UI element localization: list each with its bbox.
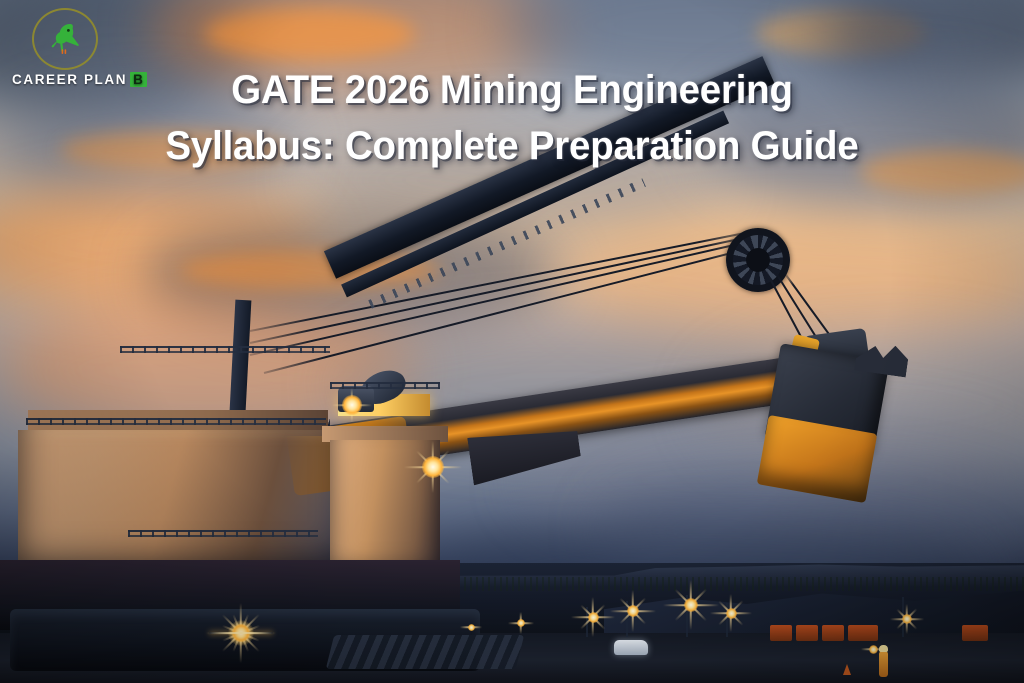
pit-light [730, 612, 732, 614]
handrail [330, 382, 440, 389]
handrail [128, 530, 318, 537]
title-line-2: Syllabus: Complete Preparation Guide [20, 118, 1003, 174]
work-light [240, 632, 242, 634]
pit-light [592, 616, 594, 618]
title-line-1: GATE 2026 Mining Engineering [20, 62, 1003, 118]
pit-light [690, 604, 692, 606]
green-bird-icon [44, 18, 86, 60]
article-hero-banner: CAREER PLANB GATE 2026 Mining Engineerin… [0, 0, 1024, 683]
page-title: GATE 2026 Mining Engineering Syllabus: C… [0, 62, 1024, 174]
handrail [26, 418, 326, 425]
crawler-track-pads [326, 635, 524, 669]
handrail [120, 346, 330, 353]
sheave-wheel-hub [746, 248, 770, 272]
pit-light [632, 610, 634, 612]
pit-light [906, 618, 908, 620]
pit-light [520, 622, 522, 624]
pit-light [470, 626, 472, 628]
pit-light [872, 648, 874, 650]
work-light [351, 404, 353, 406]
work-light [432, 466, 434, 468]
